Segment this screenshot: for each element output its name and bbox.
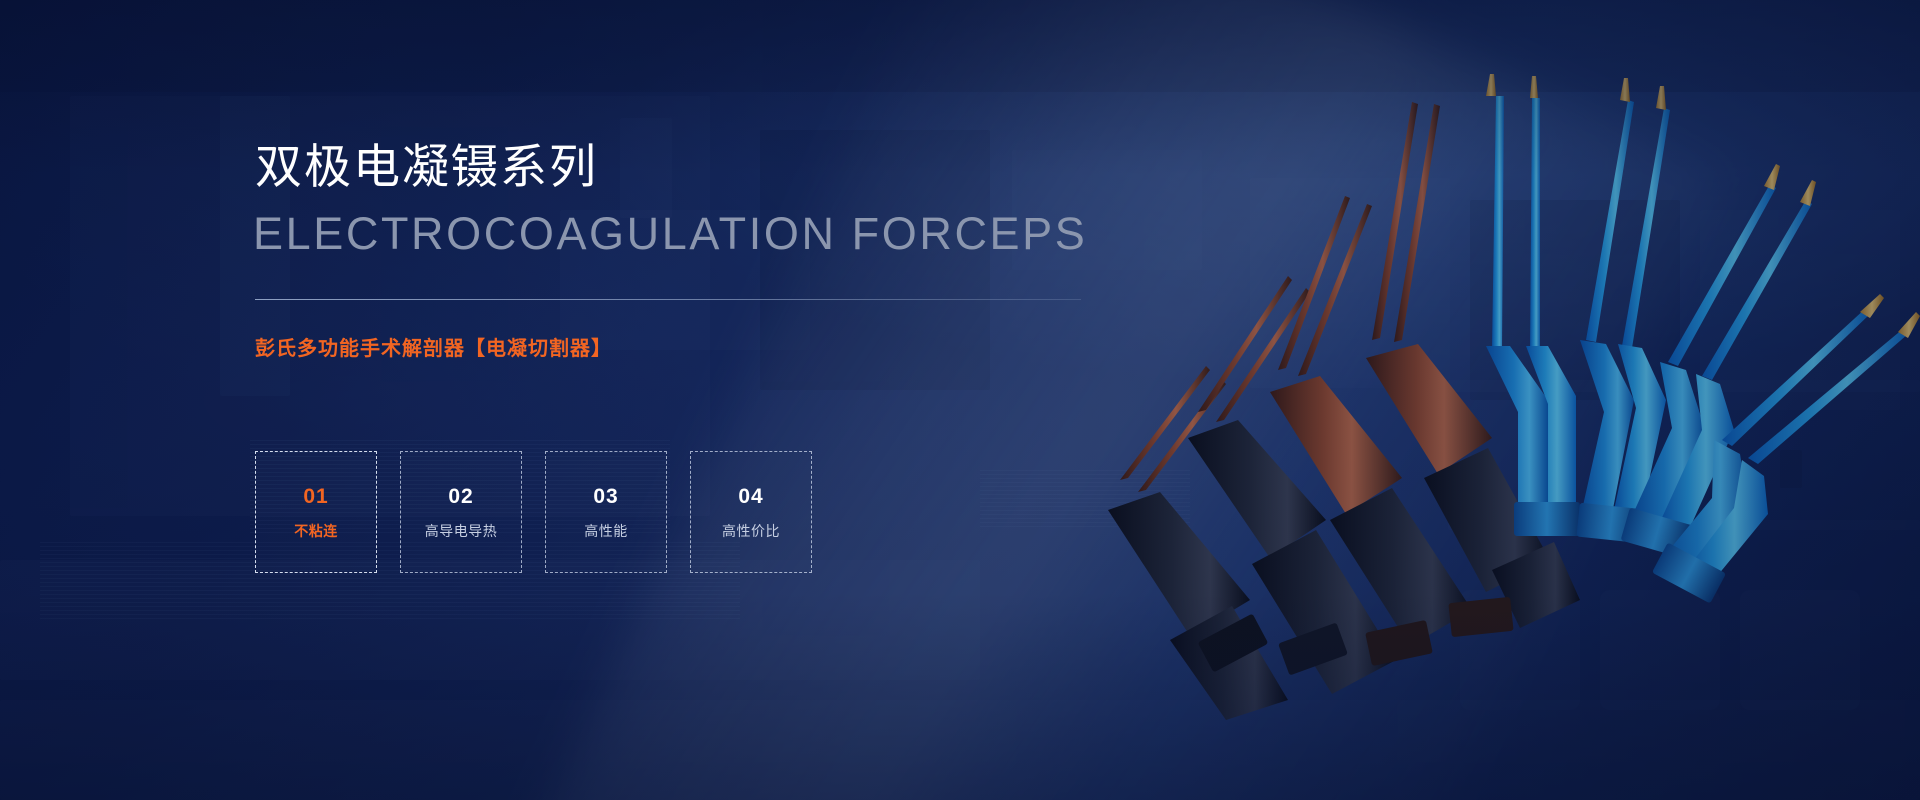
product-name-label: 彭氏多功能手术解剖器【电凝切割器】 bbox=[255, 332, 612, 361]
page-subtitle-en: ELECTROCOAGULATION FORCEPS bbox=[253, 208, 1087, 260]
feature-number: 03 bbox=[593, 486, 618, 507]
feature-label: 高性能 bbox=[584, 524, 628, 538]
feature-card-02[interactable]: 02 高导电导热 bbox=[400, 451, 522, 573]
feature-label: 不粘连 bbox=[294, 524, 338, 538]
feature-label: 高导电导热 bbox=[425, 524, 498, 538]
feature-label: 高性价比 bbox=[722, 524, 780, 538]
banner-content: 双极电凝镊系列 ELECTROCOAGULATION FORCEPS 彭氏多功能… bbox=[255, 0, 1155, 800]
feature-number: 01 bbox=[303, 486, 328, 507]
feature-number: 02 bbox=[448, 486, 473, 507]
title-divider bbox=[255, 299, 1081, 300]
feature-list: 01 不粘连 02 高导电导热 03 高性能 04 高性价比 bbox=[255, 451, 812, 573]
feature-number: 04 bbox=[738, 486, 763, 507]
feature-card-03[interactable]: 03 高性能 bbox=[545, 451, 667, 573]
page-title: 双极电凝镊系列 bbox=[255, 138, 598, 197]
product-hero-banner: 双极电凝镊系列 ELECTROCOAGULATION FORCEPS 彭氏多功能… bbox=[0, 0, 1920, 800]
feature-card-04[interactable]: 04 高性价比 bbox=[690, 451, 812, 573]
feature-card-01[interactable]: 01 不粘连 bbox=[255, 451, 377, 573]
